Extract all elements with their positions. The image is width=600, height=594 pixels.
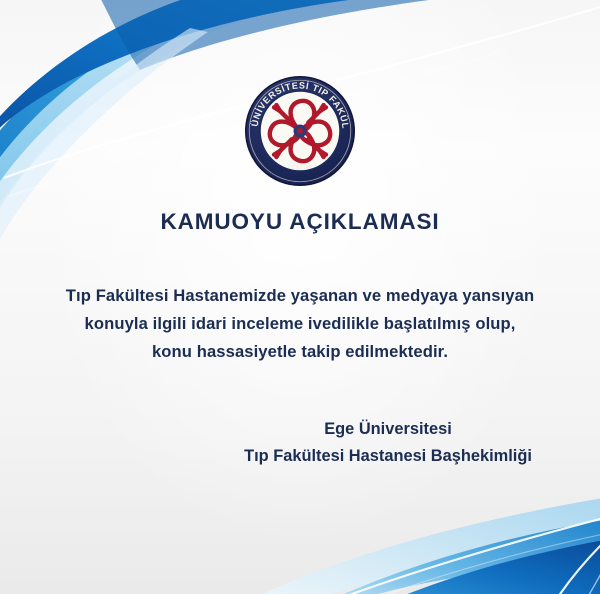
statement-body: Tıp Fakültesi Hastanemizde yaşanan ve me… xyxy=(0,282,600,366)
statement-body-line: Tıp Fakültesi Hastanemizde yaşanan ve me… xyxy=(0,282,600,310)
signature-line-department: Tıp Fakültesi Hastanesi Başhekimliği xyxy=(208,443,568,470)
signature-line-institution: Ege Üniversitesi xyxy=(208,416,568,443)
logo-container: EGE ÜNİVERSİTESİ TIP FAKÜLTESİ · İZMİR · xyxy=(0,72,600,190)
public-statement-poster: EGE ÜNİVERSİTESİ TIP FAKÜLTESİ · İZMİR · xyxy=(0,0,600,594)
ege-universitesi-tip-fakultesi-logo: EGE ÜNİVERSİTESİ TIP FAKÜLTESİ · İZMİR · xyxy=(241,72,359,190)
page-title: KAMUOYU AÇIKLAMASI xyxy=(0,209,600,235)
signature: Ege Üniversitesi Tıp Fakültesi Hastanesi… xyxy=(208,416,568,470)
statement-body-line: konuyla ilgili idari inceleme ivedilikle… xyxy=(0,310,600,338)
statement-body-line: konu hassasiyetle takip edilmektedir. xyxy=(0,338,600,366)
